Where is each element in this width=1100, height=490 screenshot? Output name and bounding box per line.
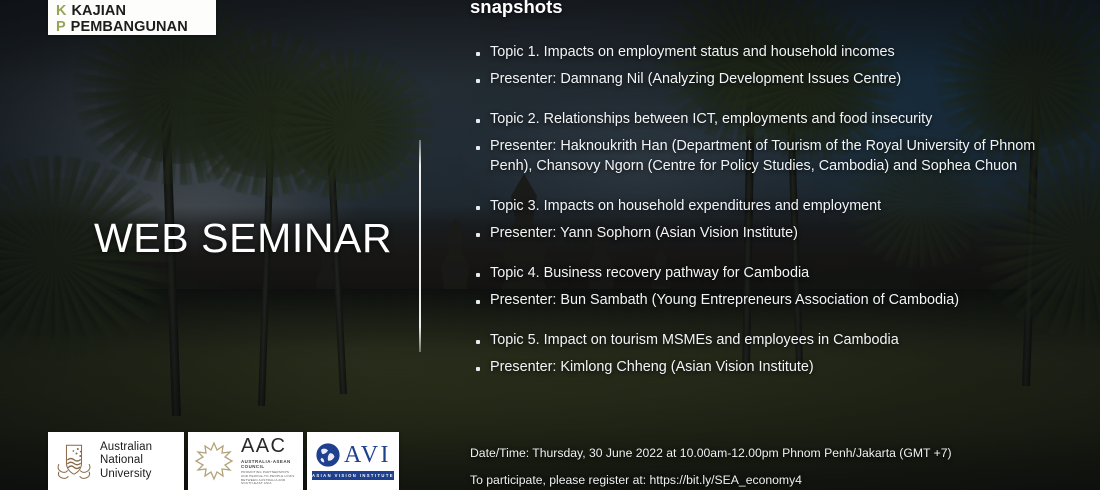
anu-line-3: University <box>100 468 152 482</box>
anu-crest-icon <box>55 439 93 483</box>
topic-group: Topic 4. Business recovery pathway for C… <box>470 264 1050 310</box>
aac-subtitle-2: PROMOTING PARTNERSHIPS AND PEOPLE-TO-PEO… <box>241 471 297 486</box>
brand-word-pembangunan: PEMBANGUNAN <box>71 20 188 35</box>
bullet-square-icon <box>476 52 480 56</box>
kajian-pembangunan-logo: K KAJIAN P PEMBANGUNAN <box>48 0 216 35</box>
anu-line-2: National <box>100 454 152 468</box>
presenter-bullet-line: Presenter: Yann Sophorn (Asian Vision In… <box>470 224 1050 244</box>
brand-word-kajian: KAJIAN <box>71 4 126 19</box>
slide-content: K KAJIAN P PEMBANGUNAN WEB SEMINAR snaps… <box>0 0 1100 490</box>
presenter-bullet-line: Presenter: Kimlong Chheng (Asian Vision … <box>470 358 1050 378</box>
avi-wordmark-row: AVI <box>315 442 391 468</box>
avi-logo: AVI ASIAN VISION INSTITUTE <box>307 432 399 490</box>
webinar-slide: K KAJIAN P PEMBANGUNAN WEB SEMINAR snaps… <box>0 0 1100 490</box>
brand-line-1: K KAJIAN <box>56 4 208 19</box>
aac-logo: AAC AUSTRALIA-ASEAN COUNCIL PROMOTING PA… <box>188 432 303 490</box>
aac-subtitle: AUSTRALIA-ASEAN COUNCIL <box>241 459 297 469</box>
avi-acronym: AVI <box>344 443 391 467</box>
brand-line-2: P PEMBANGUNAN <box>56 20 208 35</box>
topic-title: Topic 4. Business recovery pathway for C… <box>490 264 809 284</box>
bullet-square-icon <box>476 119 480 123</box>
topic-list: Topic 1. Impacts on employment status an… <box>470 43 1050 377</box>
brand-initial-p: P <box>56 20 66 35</box>
deck-title: snapshots <box>470 0 1050 18</box>
topic-presenter: Presenter: Damnang Nil (Analyzing Develo… <box>490 70 901 90</box>
aac-acronym: AAC <box>241 436 297 456</box>
bullet-square-icon <box>476 340 480 344</box>
topic-presenter: Presenter: Bun Sambath (Young Entreprene… <box>490 291 959 311</box>
bullet-square-icon <box>476 206 480 210</box>
anu-logo: Australian National University <box>48 432 184 490</box>
bullet-square-icon <box>476 273 480 277</box>
globe-icon <box>315 442 341 468</box>
presenter-bullet-line: Presenter: Bun Sambath (Young Entreprene… <box>470 291 1050 311</box>
anu-line-1: Australian <box>100 441 152 455</box>
presenter-bullet-line: Presenter: Haknoukrith Han (Department o… <box>470 137 1050 176</box>
topic-presenter: Presenter: Kimlong Chheng (Asian Vision … <box>490 358 814 378</box>
footer-info: Date/Time: Thursday, 30 June 2022 at 10.… <box>470 446 1070 490</box>
brand-initial-k: K <box>56 4 66 19</box>
registration-link[interactable]: To participate, please register at: http… <box>470 473 1070 488</box>
avi-subtitle: ASIAN VISION INSTITUTE <box>312 471 394 480</box>
web-seminar-title: WEB SEMINAR <box>94 215 392 262</box>
topic-title: Topic 1. Impacts on employment status an… <box>490 43 895 63</box>
topic-bullet-line: Topic 2. Relationships between ICT, empl… <box>470 110 1050 130</box>
bullet-square-icon <box>476 146 480 150</box>
topic-group: Topic 1. Impacts on employment status an… <box>470 43 1050 89</box>
topic-bullet-line: Topic 3. Impacts on household expenditur… <box>470 197 1050 217</box>
topic-group: Topic 5. Impact on tourism MSMEs and emp… <box>470 331 1050 377</box>
bullet-square-icon <box>476 233 480 237</box>
topic-bullet-line: Topic 5. Impact on tourism MSMEs and emp… <box>470 331 1050 351</box>
topic-group: Topic 3. Impacts on household expenditur… <box>470 197 1050 243</box>
topic-bullet-line: Topic 1. Impacts on employment status an… <box>470 43 1050 63</box>
bullet-square-icon <box>476 79 480 83</box>
agenda-column: snapshots Topic 1. Impacts on employment… <box>470 0 1050 399</box>
vertical-divider <box>419 140 421 352</box>
event-datetime: Date/Time: Thursday, 30 June 2022 at 10.… <box>470 446 1070 461</box>
topic-title: Topic 2. Relationships between ICT, empl… <box>490 110 932 130</box>
bullet-square-icon <box>476 367 480 371</box>
anu-wordmark: Australian National University <box>100 441 152 482</box>
bullet-square-icon <box>476 300 480 304</box>
topic-presenter: Presenter: Yann Sophorn (Asian Vision In… <box>490 224 798 244</box>
presenter-bullet-line: Presenter: Damnang Nil (Analyzing Develo… <box>470 70 1050 90</box>
aac-sunburst-icon <box>194 441 234 481</box>
aac-wordmark: AAC AUSTRALIA-ASEAN COUNCIL PROMOTING PA… <box>241 436 297 486</box>
topic-title: Topic 3. Impacts on household expenditur… <box>490 197 881 217</box>
topic-bullet-line: Topic 4. Business recovery pathway for C… <box>470 264 1050 284</box>
topic-title: Topic 5. Impact on tourism MSMEs and emp… <box>490 331 899 351</box>
topic-group: Topic 2. Relationships between ICT, empl… <box>470 110 1050 176</box>
sponsor-logo-row: Australian National University AAC AUSTR… <box>48 432 399 490</box>
topic-presenter: Presenter: Haknoukrith Han (Department o… <box>490 137 1050 176</box>
